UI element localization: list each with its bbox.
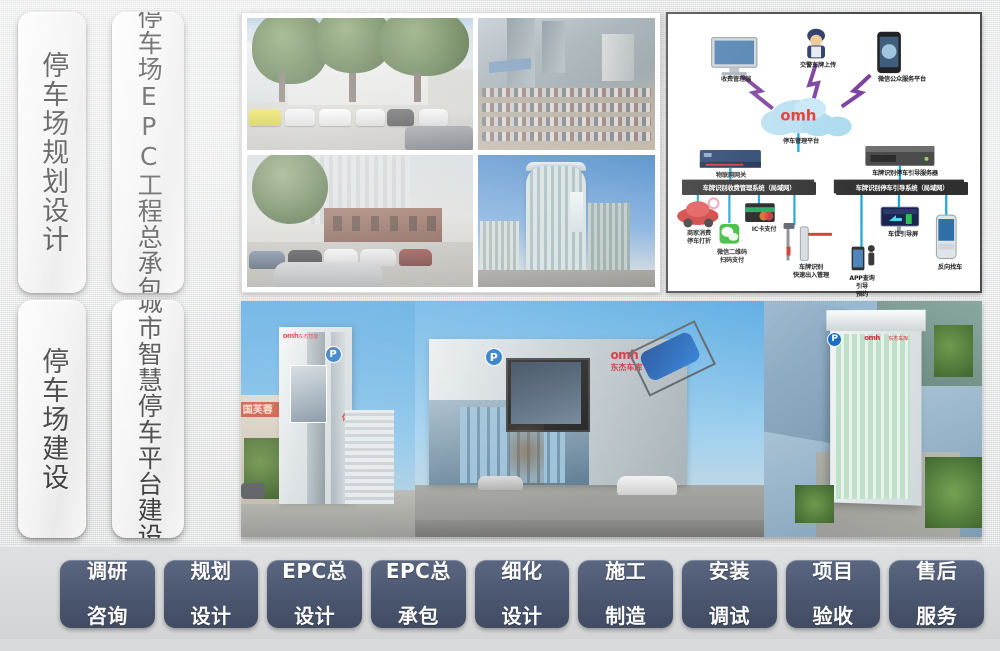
photo-aerial-parking-lot <box>478 18 655 150</box>
process-step-construction-manufacturing[interactable]: 施工 制造 <box>578 560 673 628</box>
sidebar-card-label: 城市智慧停车平台建设 <box>135 300 162 538</box>
render-brand-logo: omh <box>864 334 880 342</box>
page-background: 停车场规划设计 停车场EPC工程总承包 停车场建设 城市智慧停车平台建设 <box>0 0 1000 638</box>
process-step-line1: 施工 <box>605 559 646 583</box>
diagram-label-traffic-police-plate-upload: 交警车牌上传 <box>774 62 862 70</box>
process-step-line2: 制造 <box>605 605 646 628</box>
process-step-epc-overall-design[interactable]: EPC总 设计 <box>267 560 362 628</box>
photo-street-parking-lot <box>247 18 473 150</box>
render-plaza-garage: omh 东杰车库 P <box>415 301 764 537</box>
parking-sign-p: P <box>325 346 342 363</box>
sidebar-card-parking-planning-design[interactable]: 停车场规划设计 <box>18 12 86 293</box>
system-architecture-diagram: omh <box>666 12 982 293</box>
render-strip: 国芙蓉 omh 东杰智能 P 休闲 omh 东杰车库 P <box>241 301 982 537</box>
process-step-line1: EPC总 <box>282 559 347 583</box>
process-steps: 调研 咨询 规划 设计 EPC总 设计 EPC总 承包 细化 设 <box>60 560 984 628</box>
diagram-leaf-space-guidance-screen: 车位引导屏 <box>876 231 930 239</box>
sidebar-card-label: 停车场EPC工程总承包 <box>135 12 162 293</box>
photo-glass-office-tower <box>478 155 655 287</box>
process-step-line2: 设计 <box>282 605 347 628</box>
process-step-line2: 设计 <box>502 605 543 628</box>
process-step-line1: 细化 <box>502 559 543 583</box>
sidebar-card-smart-city-parking-platform[interactable]: 城市智慧停车平台建设 <box>112 300 184 538</box>
process-step-line1: 规划 <box>191 559 232 583</box>
svg-text:omh: omh <box>780 107 816 124</box>
diagram-leaf-app-query-guidance-booking: APP查询 引导 预约 <box>842 275 882 298</box>
process-step-research-consulting[interactable]: 调研 咨询 <box>60 560 155 628</box>
parking-sign-p: P <box>485 348 503 366</box>
diagram-leaf-wechat-qr-payment: 微信二维码 扫码支付 <box>704 249 760 265</box>
process-step-detailed-design[interactable]: 细化 设计 <box>475 560 570 628</box>
render-aerial-tower: P omh 东杰车库 <box>764 301 982 537</box>
process-step-line2: 服务 <box>916 605 957 628</box>
render-brand-cn: 东杰智能 <box>298 333 318 340</box>
render-brand-logo: omh <box>283 332 299 340</box>
photo-collage <box>241 12 661 293</box>
process-step-line2: 调试 <box>709 605 750 628</box>
process-step-line2: 设计 <box>191 605 232 628</box>
process-step-after-sales-service[interactable]: 售后 服务 <box>889 560 984 628</box>
process-step-line1: 调研 <box>87 559 128 583</box>
diagram-leaf-merchant-discount: 商家消费 停车打折 <box>672 230 726 246</box>
photo-open-lot-brick-building <box>247 155 473 287</box>
diagram-label-iot-gateway: 物联网网关 <box>686 172 776 180</box>
process-step-line1: EPC总 <box>386 559 451 583</box>
render-street-sign-left: 国芙蓉 <box>243 401 273 416</box>
process-step-epc-general-contracting[interactable]: EPC总 承包 <box>371 560 466 628</box>
diagram-label-wechat-public-service-platform: 微信公众服务平台 <box>854 76 950 84</box>
process-step-line1: 售后 <box>916 559 957 583</box>
process-step-line1: 项目 <box>813 559 854 583</box>
sidebar-card-label: 停车场建设 <box>38 347 67 492</box>
process-step-line2: 验收 <box>813 605 854 628</box>
sidebar-card-parking-epc-contracting[interactable]: 停车场EPC工程总承包 <box>112 12 184 293</box>
diagram-leaf-plate-fast-entry-exit: 车牌识别 快速出入管理 <box>780 264 842 280</box>
process-step-project-acceptance[interactable]: 项目 验收 <box>786 560 881 628</box>
sidebar-card-label: 停车场规划设计 <box>38 51 67 254</box>
diagram-leaf-reverse-car-finding: 反向找车 <box>926 264 974 272</box>
diagram-subsystem-plate-toll-management-system: 车牌识别收费管理系统（局域网） <box>682 182 816 195</box>
process-step-line2: 承包 <box>386 605 451 628</box>
diagram-label-toll-management-terminal: 收费管理端 <box>688 76 784 84</box>
parking-sign-p: P <box>827 332 842 347</box>
sidebar-card-parking-construction[interactable]: 停车场建设 <box>18 300 86 538</box>
process-step-planning-design[interactable]: 规划 设计 <box>164 560 259 628</box>
process-step-line1: 安装 <box>709 559 750 583</box>
process-step-line2: 咨询 <box>87 605 128 628</box>
diagram-label-plate-recognition-guidance-server: 车牌识别停车引导服务器 <box>850 170 960 178</box>
diagram-leaf-ic-card-payment: IC卡支付 <box>744 226 784 234</box>
process-step-installation-commissioning[interactable]: 安装 调试 <box>682 560 777 628</box>
diagram-subsystem-plate-parking-guidance-system: 车牌识别停车引导系统（局域网） <box>836 182 968 195</box>
render-tower-garage: 国芙蓉 omh 东杰智能 P 休闲 <box>241 301 415 537</box>
diagram-label-parking-management-platform: 停车管理平台 <box>756 138 846 146</box>
render-brand-cn: 东杰车库 <box>888 335 908 342</box>
